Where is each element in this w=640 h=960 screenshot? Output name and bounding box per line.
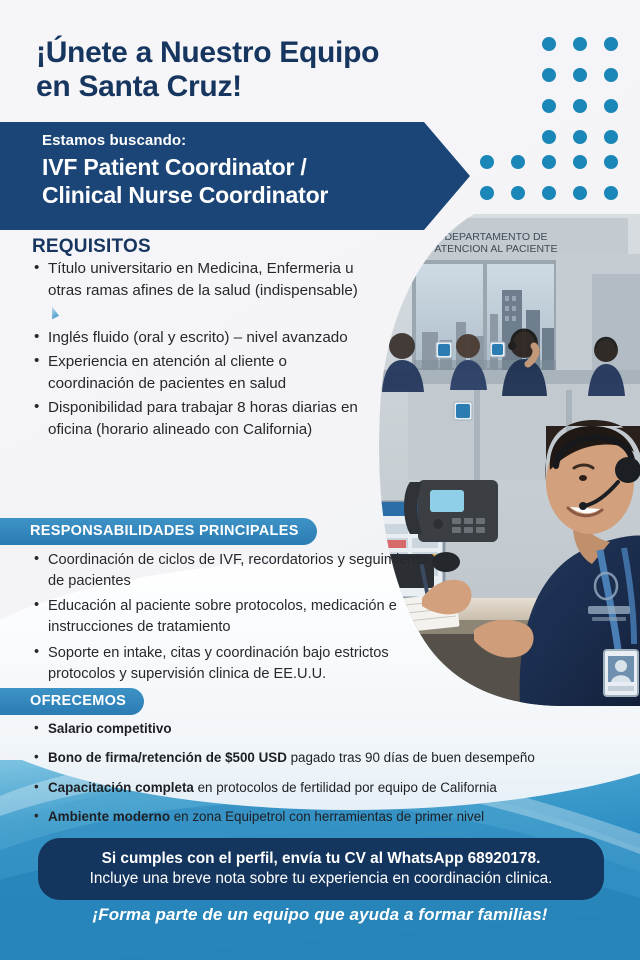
- text-caret-icon: [52, 306, 59, 319]
- contact-cta-box: Si cumples con el perfil, envía tu CV al…: [38, 838, 604, 900]
- ofrecemos-section: Salario competitivo Bono de firma/retenc…: [32, 720, 622, 838]
- list-item: Inglés fluido (oral y escrito) – nivel a…: [32, 327, 362, 349]
- list-item: Experiencia en atención al cliente o coo…: [32, 351, 362, 395]
- requisitos-list: Título universitario en Medicina, Enferm…: [32, 258, 362, 442]
- closing-tagline: ¡Forma parte de un equipo que ayuda a fo…: [0, 905, 640, 925]
- list-item: Ambiente moderno en zona Equipetrol con …: [32, 808, 622, 825]
- photo-sign-line1: DEPARTAMENTO DE: [444, 231, 547, 243]
- benefit-detail: en protocolos de fertilidad por equipo d…: [194, 780, 497, 795]
- list-item: Bono de firma/retención de $500 USD paga…: [32, 749, 622, 766]
- responsabilidades-section: Coordinación de ciclos de IVF, recordato…: [32, 550, 432, 689]
- ofrecemos-heading: OFRECEMOS: [0, 693, 126, 709]
- benefit-label: Capacitación completa: [48, 780, 194, 795]
- benefit-label: Salario competitivo: [48, 721, 172, 736]
- ofrecemos-heading-pill: OFRECEMOS: [0, 688, 144, 715]
- job-title-line-1: IVF Patient Coordinator /: [42, 154, 442, 182]
- headline-line-2: en Santa Cruz!: [36, 70, 456, 104]
- list-item: Disponibilidad para trabajar 8 horas dia…: [32, 397, 362, 441]
- requisitos-heading: REQUISITOS: [32, 236, 362, 258]
- list-item: Educación al paciente sobre protocolos, …: [32, 596, 432, 637]
- photo-sign-line2: ATENCION AL PACIENTE: [435, 243, 558, 255]
- job-title-line-2: Clinical Nurse Coordinator: [42, 182, 442, 210]
- cta-line-2: Incluye una breve nota sobre tu experien…: [58, 869, 584, 889]
- responsabilidades-heading: RESPONSABILIDADES PRINCIPALES: [0, 523, 299, 539]
- list-item: Salario competitivo: [32, 720, 622, 737]
- page-title: ¡Únete a Nuestro Equipo en Santa Cruz!: [36, 36, 456, 104]
- ofrecemos-list: Salario competitivo Bono de firma/retenc…: [32, 720, 622, 826]
- headline-line-1: ¡Únete a Nuestro Equipo: [36, 36, 456, 70]
- benefit-label: Bono de firma/retención de $500 USD: [48, 750, 287, 765]
- benefit-label: Ambiente moderno: [48, 809, 170, 824]
- requisitos-section: REQUISITOS Título universitario en Medic…: [32, 236, 362, 444]
- responsabilidades-list: Coordinación de ciclos de IVF, recordato…: [32, 550, 432, 684]
- list-item: Capacitación completa en protocolos de f…: [32, 779, 622, 796]
- list-item: Coordinación de ciclos de IVF, recordato…: [32, 550, 432, 591]
- job-title-banner-text: Estamos buscando: IVF Patient Coordinato…: [42, 132, 442, 209]
- list-item: Título universitario en Medicina, Enferm…: [32, 258, 362, 325]
- list-item: Soporte en intake, citas y coordinación …: [32, 643, 432, 684]
- responsabilidades-heading-pill: RESPONSABILIDADES PRINCIPALES: [0, 518, 317, 545]
- banner-kicker: Estamos buscando:: [42, 132, 442, 149]
- benefit-detail: pagado tras 90 días de buen desempeño: [287, 750, 535, 765]
- cta-line-1: Si cumples con el perfil, envía tu CV al…: [58, 849, 584, 869]
- job-posting-flyer: DEPARTAMENTO DE ATENCION AL PACIENTE: [0, 0, 640, 960]
- benefit-detail: en zona Equipetrol con herramientas de p…: [170, 809, 484, 824]
